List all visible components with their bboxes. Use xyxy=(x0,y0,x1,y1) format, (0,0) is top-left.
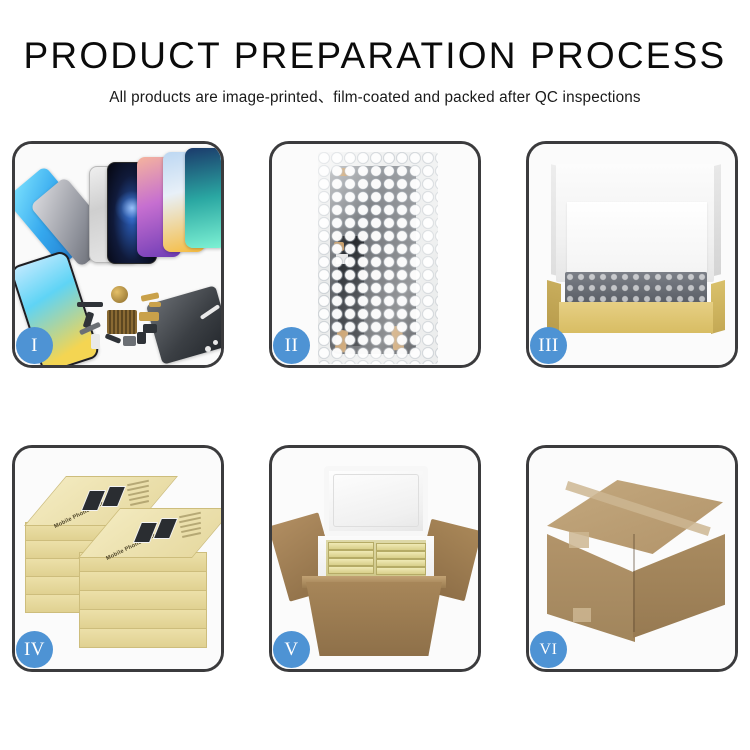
process-step-panel-6[interactable]: VI xyxy=(526,445,738,672)
box-stack-icon: Mobile Phone Spare Parts Mobile Phone Sp… xyxy=(23,466,221,656)
foam-lid-icon xyxy=(324,466,428,536)
step-5-badge: V xyxy=(273,631,310,668)
process-step-panel-2[interactable]: II xyxy=(269,141,481,368)
process-step-panel-1[interactable]: I xyxy=(12,141,224,368)
plastic-sheen-overlay xyxy=(318,152,438,364)
green-phone-icon xyxy=(185,148,221,248)
process-steps-grid: I II III xyxy=(12,141,738,672)
packed-boxes-icon xyxy=(326,540,426,578)
step-1-badge: I xyxy=(16,327,53,364)
step-6-badge: VI xyxy=(530,631,567,668)
page-subtitle: All products are image-printed、film-coat… xyxy=(0,87,750,109)
carton-body-icon xyxy=(306,582,442,656)
process-step-panel-5[interactable]: V xyxy=(269,445,481,672)
process-step-panel-3[interactable]: III xyxy=(526,141,738,368)
step-2-badge: II xyxy=(273,327,310,364)
step-4-badge: IV xyxy=(16,631,53,668)
kraft-box-front-icon xyxy=(559,302,713,333)
page-title: PRODUCT PREPARATION PROCESS xyxy=(0,34,750,78)
bubble-wrap-fill-icon xyxy=(565,272,707,305)
page-header: PRODUCT PREPARATION PROCESS All products… xyxy=(0,0,750,109)
step-3-badge: III xyxy=(530,327,567,364)
carton-left-face-icon xyxy=(547,534,635,642)
foam-sheet-icon xyxy=(567,202,707,272)
process-step-panel-4[interactable]: Mobile Phone Spare Parts Mobile Phone Sp… xyxy=(12,445,224,672)
